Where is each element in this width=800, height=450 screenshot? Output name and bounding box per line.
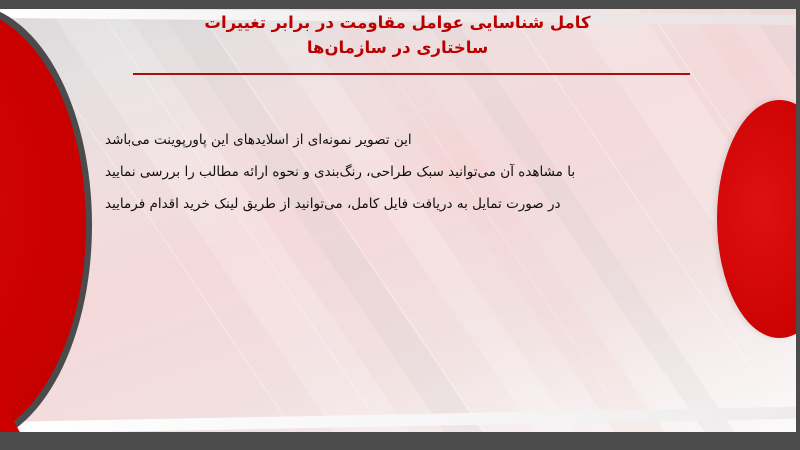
- body-line-3: در صورت تمایل به دریافت فایل کامل، می‌تو…: [105, 188, 705, 220]
- title-underline-rule: [133, 73, 690, 75]
- title-line-1: کامل شناسایی عوامل مقاومت در برابر تغییر…: [105, 10, 690, 35]
- body-line-1: این تصویر نمونه‌ای از اسلایدهای این پاور…: [105, 124, 705, 156]
- slide-content: کامل شناسایی عوامل مقاومت در برابر تغییر…: [0, 0, 800, 450]
- slide-frame-top: [0, 0, 800, 9]
- body-line-2: با مشاهده آن می‌توانید سبک طراحی، رنگ‌بن…: [105, 156, 705, 188]
- title-line-2: ساختاری در سازمان‌ها: [105, 35, 690, 60]
- slide-frame-bottom: [0, 432, 800, 450]
- slide-frame-right: [796, 0, 800, 450]
- slide-title: کامل شناسایی عوامل مقاومت در برابر تغییر…: [105, 10, 690, 60]
- slide-body-text: این تصویر نمونه‌ای از اسلایدهای این پاور…: [105, 124, 705, 220]
- presentation-slide: کامل شناسایی عوامل مقاومت در برابر تغییر…: [0, 0, 800, 450]
